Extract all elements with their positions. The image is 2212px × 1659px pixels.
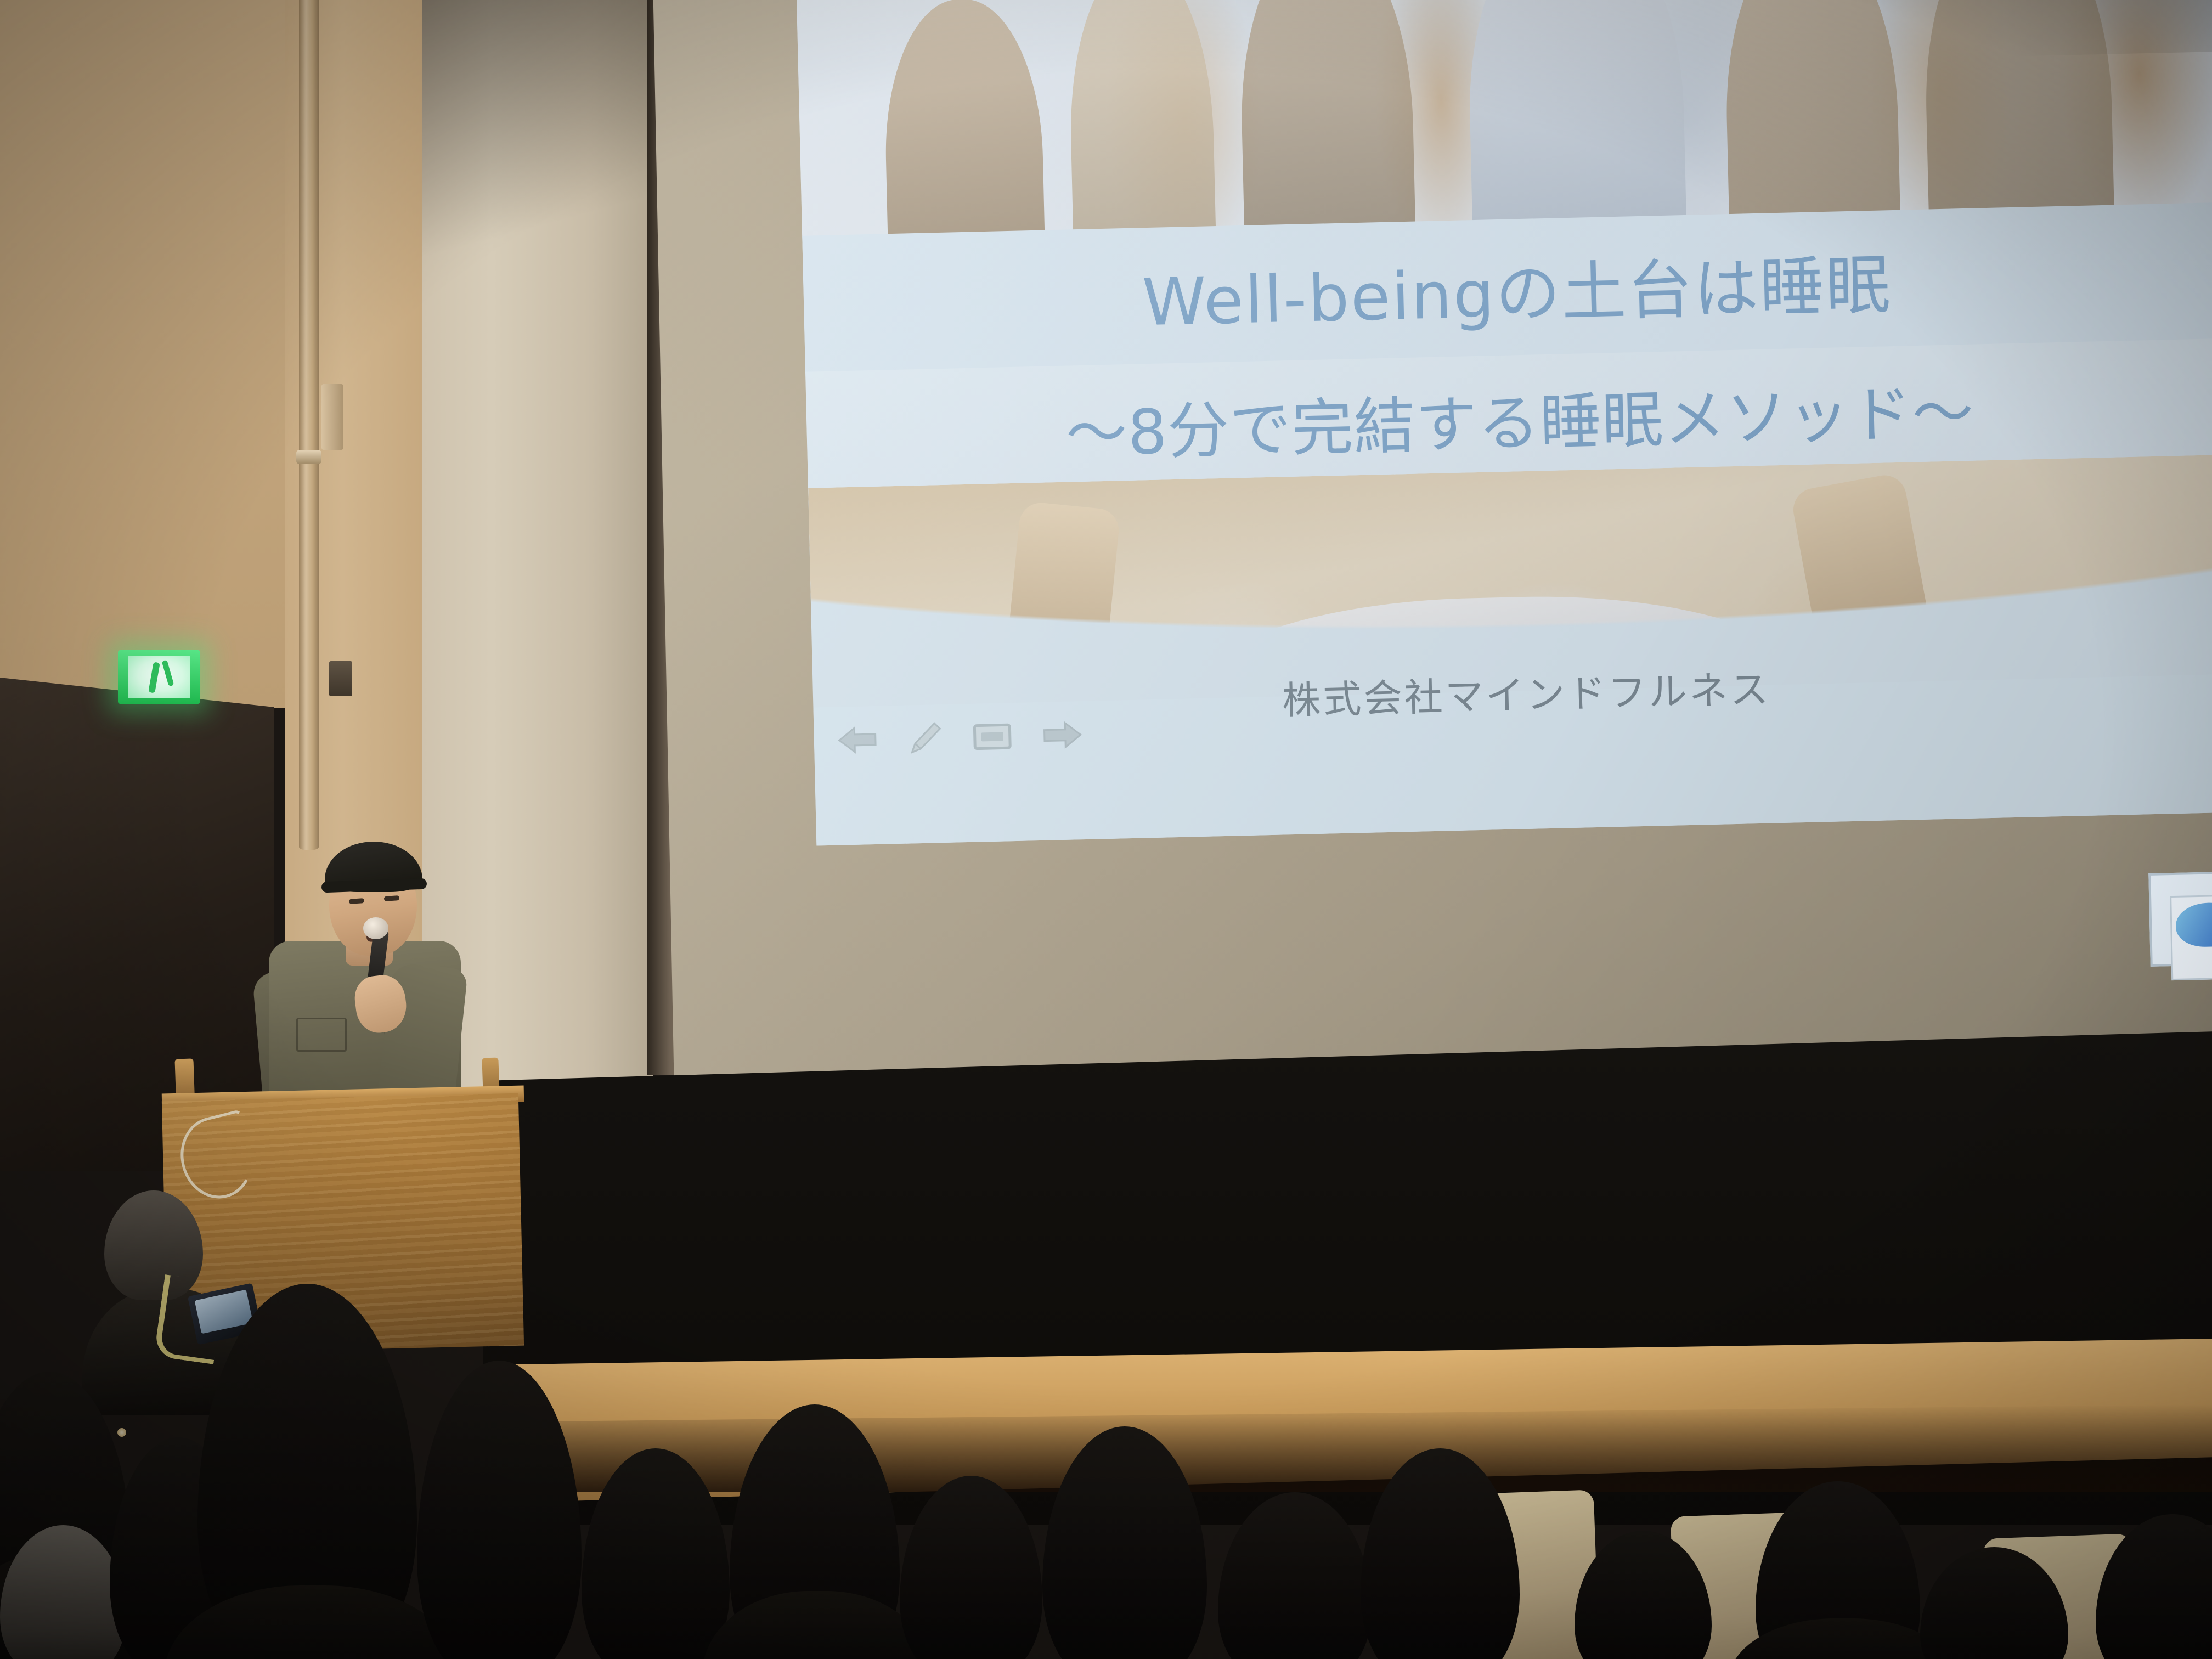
wall-shadow xyxy=(422,0,653,307)
speaker-eye-right xyxy=(384,895,400,901)
vertical-pipe xyxy=(299,0,319,850)
slide-title: Well-beingの土台は睡眠 xyxy=(1141,232,1893,343)
previous-slide-arrow-icon[interactable] xyxy=(836,724,879,756)
next-slide-arrow-icon[interactable] xyxy=(1041,719,1084,751)
slide-subtitle: 〜8分で完結する睡眠メソッド〜 xyxy=(1065,363,1975,473)
speaker-eye-left xyxy=(349,898,365,904)
presentation-controls[interactable] xyxy=(836,716,1084,759)
shirt-pocket-left xyxy=(296,1018,347,1052)
secondary-monitor xyxy=(2148,871,2212,967)
projected-slide: Mindfulness Well-beingの土台は睡眠 〜8分で完結する睡眠メ… xyxy=(795,0,2212,846)
wall-switch-plate[interactable] xyxy=(329,661,352,696)
microphone-head xyxy=(363,917,388,939)
pipe-joint xyxy=(296,450,321,464)
pipe-bracket xyxy=(321,384,343,450)
slide-navigator-icon[interactable] xyxy=(972,721,1013,753)
screenshot-canvas: Mindfulness Well-beingの土台は睡眠 〜8分で完結する睡眠メ… xyxy=(0,0,2212,1659)
pen-annotation-icon[interactable] xyxy=(907,720,944,757)
emergency-exit-sign xyxy=(118,650,200,704)
left-wall xyxy=(0,0,307,708)
